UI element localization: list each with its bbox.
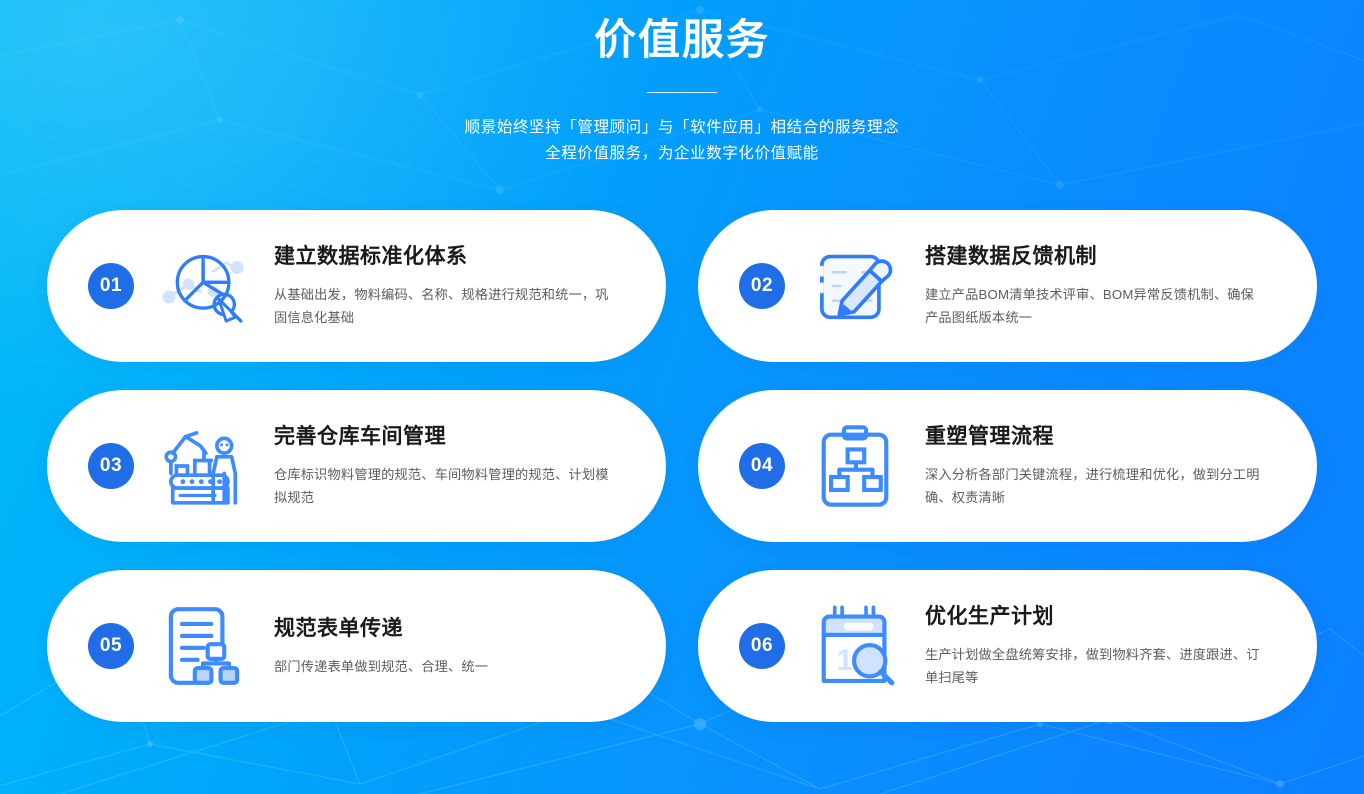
card-number-badge: 04 [739, 443, 785, 489]
card-title: 优化生产计划 [925, 603, 1267, 630]
card-text-block: 完善仓库车间管理 仓库标识物料管理的规范、车间物料管理的规范、计划模拟规范 [274, 423, 609, 509]
card-description: 建立产品BOM清单技术评审、BOM异常反馈机制、确保产品图纸版本统一 [925, 283, 1267, 329]
card-description: 仓库标识物料管理的规范、车间物料管理的规范、计划模拟规范 [274, 463, 609, 509]
card-number-badge: 01 [88, 263, 134, 309]
value-services-page: 价值服务 顺景始终坚持「管理顾问」与「软件应用」相结合的服务理念 全程价值服务，… [0, 0, 1364, 794]
service-card-03[interactable]: 03 [47, 390, 666, 542]
pie-chart-magnifier-icon [156, 238, 252, 334]
card-title: 完善仓库车间管理 [274, 423, 609, 450]
service-card-06[interactable]: 06 11 优化生产计划 生产计划做全盘统筹安排，做到物料齐套、 [698, 570, 1317, 722]
subtitle-line-2: 全程价值服务，为企业数字化价值赋能 [0, 141, 1364, 167]
service-card-05[interactable]: 05 [47, 570, 666, 722]
card-description: 部门传递表单做到规范、合理、统一 [274, 655, 488, 678]
card-number-badge: 06 [739, 623, 785, 669]
card-title: 建立数据标准化体系 [274, 243, 609, 270]
calendar-magnifier-icon: 11 [807, 598, 903, 694]
page-header: 价值服务 顺景始终坚持「管理顾问」与「软件应用」相结合的服务理念 全程价值服务，… [0, 0, 1364, 167]
card-number-badge: 05 [88, 623, 134, 669]
card-text-block: 优化生产计划 生产计划做全盘统筹安排，做到物料齐套、进度跟进、订单扫尾等 [925, 603, 1267, 689]
card-text-block: 规范表单传递 部门传递表单做到规范、合理、统一 [274, 615, 488, 678]
card-text-block: 重塑管理流程 深入分析各部门关键流程，进行梳理和优化，做到分工明确、权责清晰 [925, 423, 1267, 509]
subtitle-line-1: 顺景始终坚持「管理顾问」与「软件应用」相结合的服务理念 [0, 115, 1364, 141]
card-number-badge: 02 [739, 263, 785, 309]
card-title: 搭建数据反馈机制 [925, 243, 1267, 270]
notepad-pencil-icon [807, 238, 903, 334]
card-number-badge: 03 [88, 443, 134, 489]
service-cards-grid: 01 [0, 210, 1364, 722]
clipboard-org-chart-icon [807, 418, 903, 514]
page-subtitle: 顺景始终坚持「管理顾问」与「软件应用」相结合的服务理念 全程价值服务，为企业数字… [0, 115, 1364, 167]
service-card-02[interactable]: 02 [698, 210, 1317, 362]
card-text-block: 搭建数据反馈机制 建立产品BOM清单技术评审、BOM异常反馈机制、确保产品图纸版… [925, 243, 1267, 329]
service-card-01[interactable]: 01 [47, 210, 666, 362]
card-text-block: 建立数据标准化体系 从基础出发，物料编码、名称、规格进行规范和统一，巩固信息化基… [274, 243, 609, 329]
card-title: 重塑管理流程 [925, 423, 1267, 450]
title-divider [647, 92, 717, 93]
card-title: 规范表单传递 [274, 615, 488, 642]
card-description: 生产计划做全盘统筹安排，做到物料齐套、进度跟进、订单扫尾等 [925, 643, 1267, 689]
card-description: 从基础出发，物料编码、名称、规格进行规范和统一，巩固信息化基础 [274, 283, 609, 329]
page-title: 价值服务 [0, 14, 1364, 65]
document-flowchart-icon [156, 598, 252, 694]
card-description: 深入分析各部门关键流程，进行梳理和优化，做到分工明确、权责清晰 [925, 463, 1267, 509]
service-card-04[interactable]: 04 重塑管理流程 深入分析各部 [698, 390, 1317, 542]
assembly-line-worker-icon [156, 418, 252, 514]
